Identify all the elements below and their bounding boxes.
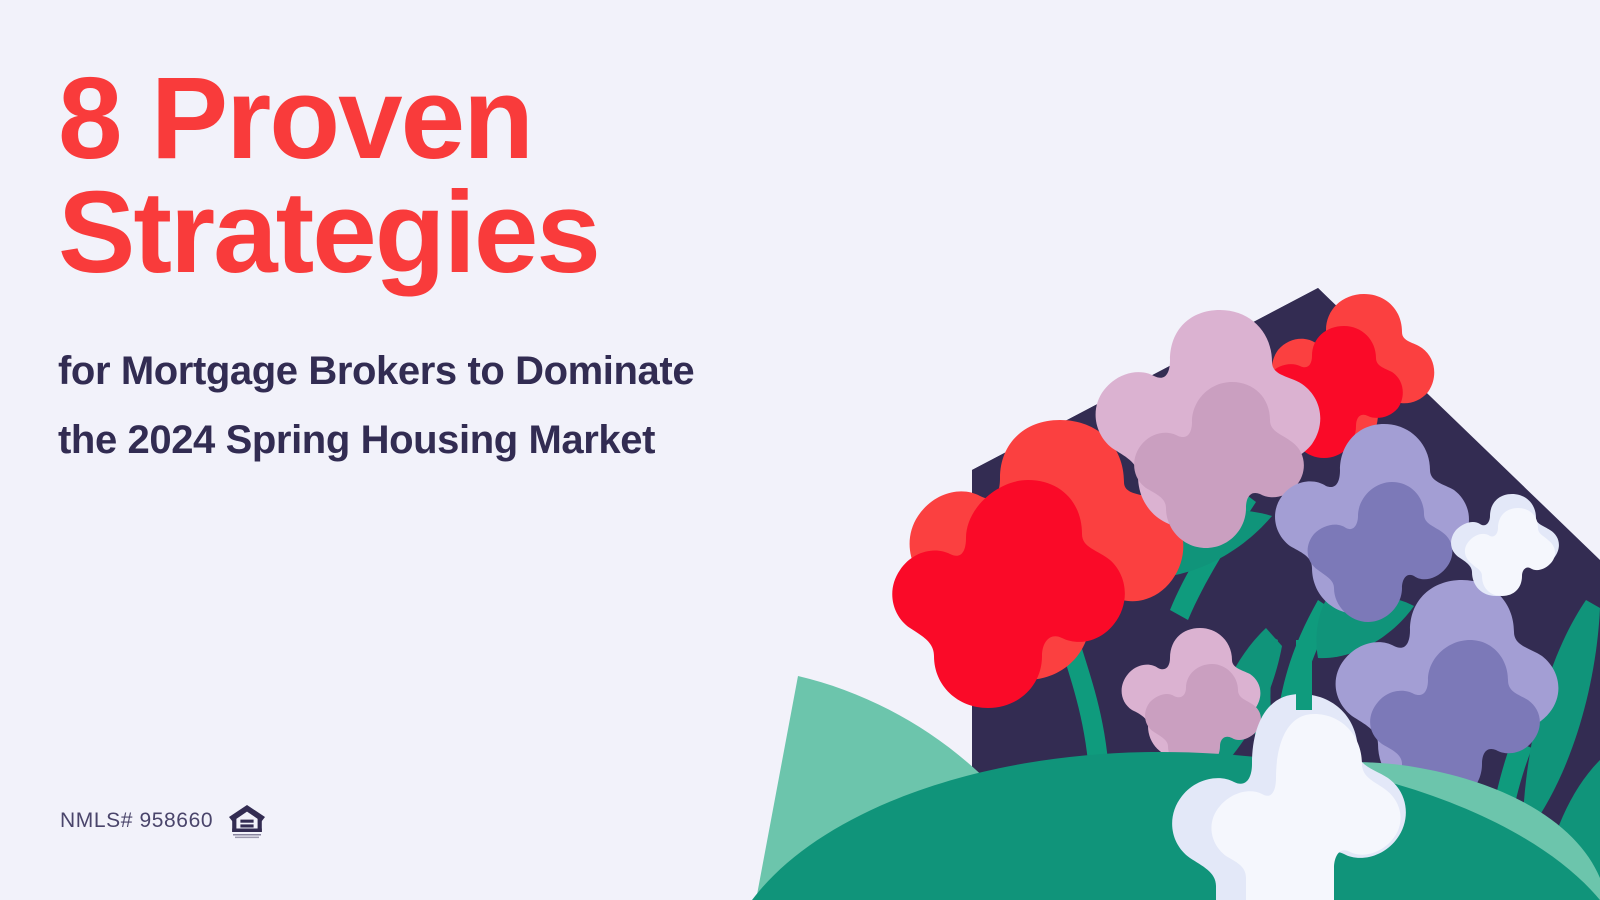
flower-pink-small — [1122, 628, 1261, 772]
leaf-right-tall — [1522, 600, 1600, 840]
page-title: 8 Proven Strategies — [58, 62, 958, 289]
stem-pink-flower — [1170, 490, 1256, 620]
leaf-purple-flower — [1316, 595, 1414, 658]
hill-back — [756, 676, 1072, 900]
leaf-pink-flower — [1142, 510, 1272, 578]
hill-front — [752, 752, 1600, 900]
equal-housing-opportunity-logo — [227, 802, 267, 840]
flower-purple-lower — [1336, 580, 1559, 804]
stem-red-flower — [1048, 560, 1110, 790]
stem-right-flower — [1486, 740, 1532, 880]
stem-purple-flower — [1272, 600, 1336, 800]
house-shape — [972, 288, 1560, 800]
promo-banner: 8 Proven Strategies for Mortgage Brokers… — [0, 0, 1600, 900]
stem-white-flower — [1296, 640, 1312, 710]
hill-back-right — [1072, 762, 1600, 900]
flower-purple-upper — [1275, 424, 1469, 622]
flower-white-small — [1451, 494, 1559, 596]
footer: NMLS# 958660 — [60, 802, 267, 840]
page-subtitle: for Mortgage Brokers to Dominate the 202… — [58, 289, 958, 475]
flower-pink-large — [1096, 310, 1321, 548]
nmls-number: NMLS# 958660 — [60, 809, 213, 833]
leaf-center-long — [1202, 628, 1282, 786]
text-block: 8 Proven Strategies for Mortgage Brokers… — [58, 62, 958, 475]
leaf-far-right — [1540, 760, 1600, 900]
flower-white-large — [1172, 694, 1406, 900]
house-shape-extend — [972, 288, 1600, 840]
leaf-center-left — [1253, 632, 1286, 790]
flower-red-small — [1265, 294, 1434, 458]
